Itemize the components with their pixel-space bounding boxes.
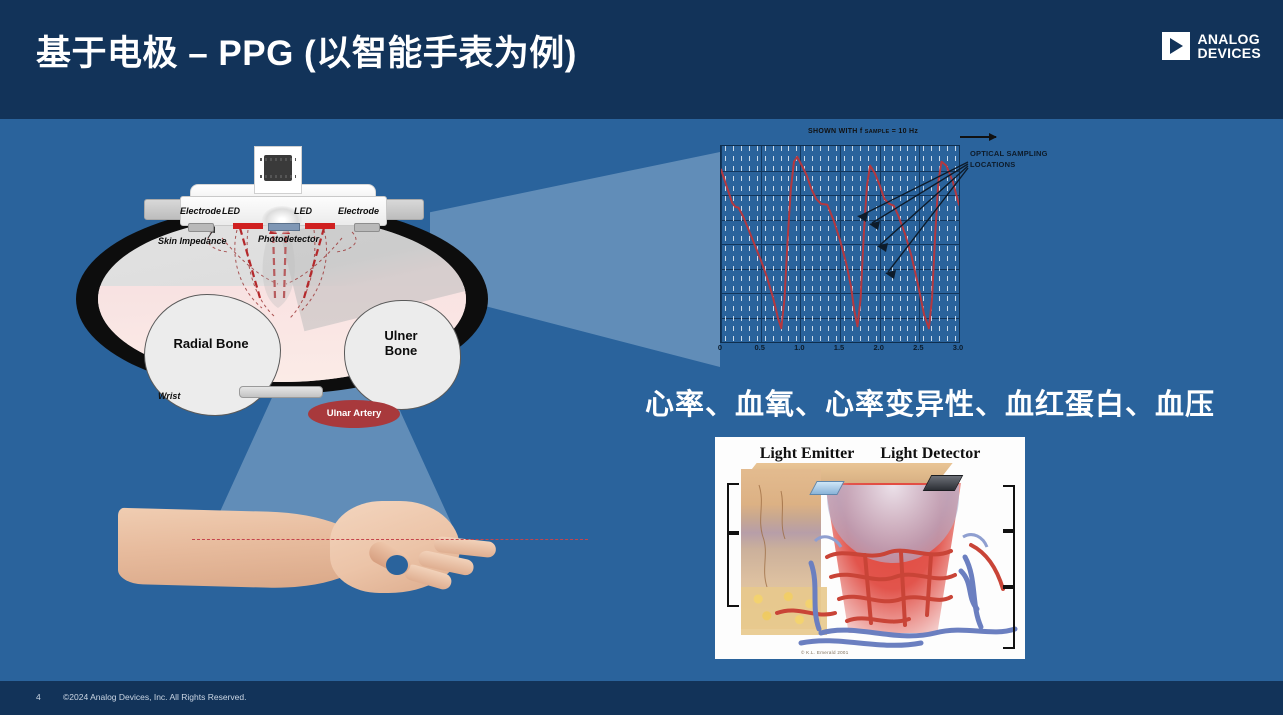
- photodetector-label: Photodetector: [258, 234, 319, 244]
- electrode-pad-right: [354, 223, 380, 232]
- electrode-pad-left: [188, 223, 214, 232]
- radial-bone-label: Radial Bone: [146, 336, 276, 351]
- slide-header: 基于电极 – PPG (以智能手表为例) ANALOG DEVICES: [0, 0, 1283, 119]
- led-right: [305, 223, 335, 229]
- ic-chip-icon: [264, 155, 292, 181]
- ulner-bone-label: Ulner Bone: [346, 328, 456, 358]
- cross-section-cut-line: [192, 539, 588, 540]
- depth-bracket-left-2: [727, 533, 739, 607]
- ulner-bone-label-line2: Bone: [346, 343, 456, 358]
- led-right-label: LED: [294, 206, 312, 216]
- hand-gap: [386, 555, 408, 575]
- skin-cross-section-photo: Light Emitter Light Detector: [712, 434, 1028, 662]
- skin-impedance-label: Skin Impedance: [158, 236, 227, 246]
- watch-clasp: [239, 386, 323, 398]
- electrode-left-label: Electrode: [180, 206, 221, 216]
- depth-bracket-right-3: [1003, 587, 1015, 649]
- page-number: 4: [36, 692, 41, 702]
- wrist-cross-section-diagram: Radial Bone Ulner Bone Wrist Ulnar Arter…: [62, 158, 502, 408]
- depth-bracket-left-1: [727, 483, 739, 533]
- depth-bracket-right-1: [1003, 485, 1015, 531]
- forearm-photo: [118, 495, 508, 610]
- ulnar-artery-shape: Ulnar Artery: [308, 400, 400, 428]
- adi-triangle-icon: [1162, 32, 1190, 60]
- analog-devices-logo: ANALOG DEVICES: [1162, 32, 1261, 60]
- photo-credit: © K.L. Emerald 2001: [801, 650, 849, 655]
- photodetector: [268, 223, 300, 231]
- ulner-bone-label-line1: Ulner: [346, 328, 456, 343]
- skin-photo-inner: Light Emitter Light Detector: [715, 437, 1025, 659]
- sensor-row: [180, 222, 385, 230]
- copyright-text: ©2024 Analog Devices, Inc. All Rights Re…: [63, 692, 246, 702]
- slide-footer: 4 ©2024 Analog Devices, Inc. All Rights …: [0, 681, 1283, 715]
- wrist-label: Wrist: [158, 389, 180, 404]
- page-title: 基于电极 – PPG (以智能手表为例): [36, 25, 577, 76]
- led-left-label: LED: [222, 206, 240, 216]
- led-left: [233, 223, 263, 229]
- slide-root: 基于电极 – PPG (以智能手表为例) ANALOG DEVICES Radi…: [0, 0, 1283, 715]
- depth-bracket-right-2: [1003, 531, 1015, 587]
- ppg-chart-panel: SHOWN WITH f SAMPLE = 10 Hz 00.51.01.52.…: [712, 128, 1042, 368]
- adi-logo-line1: ANALOG: [1197, 32, 1261, 46]
- osl-arrows: [712, 128, 1042, 368]
- adi-logo-text: ANALOG DEVICES: [1197, 32, 1261, 60]
- vascular-network: [715, 437, 1025, 659]
- adi-logo-line2: DEVICES: [1197, 46, 1261, 60]
- electrode-right-label: Electrode: [338, 206, 379, 216]
- ic-chip-photo: [254, 146, 302, 194]
- ulnar-artery-label: Ulnar Artery: [308, 400, 400, 428]
- metrics-caption: 心率、血氧、心率变异性、血红蛋白、血压: [645, 381, 1215, 423]
